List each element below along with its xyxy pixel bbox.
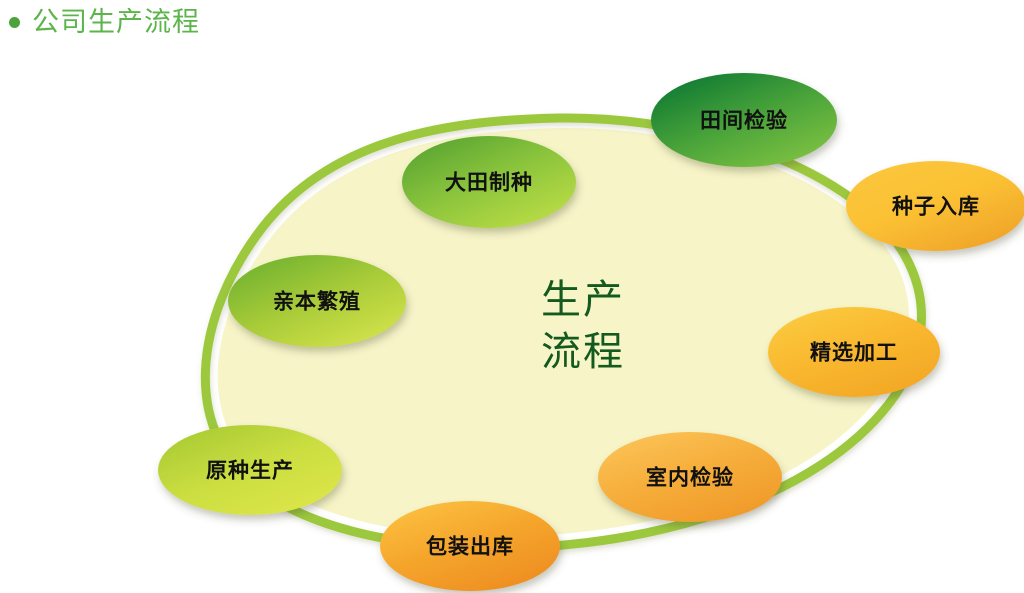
node-parent-propagation-shape[interactable] xyxy=(228,255,406,347)
node-packaging-shipping-shape[interactable] xyxy=(380,501,560,591)
production-process-diagram: 田间检验 种子入库 精选加工 室内检验 包装出库 原种生产 亲本繁殖 大田制种 … xyxy=(0,0,1024,593)
node-indoor-inspection-shape[interactable] xyxy=(598,432,782,522)
diagram-canvas xyxy=(0,0,1024,593)
node-original-seed-shape[interactable] xyxy=(158,425,342,515)
node-field-inspection-shape[interactable] xyxy=(651,73,837,167)
node-selection-processing-shape[interactable] xyxy=(768,307,940,397)
node-field-seed-shape[interactable] xyxy=(402,136,576,228)
node-seed-storage-shape[interactable] xyxy=(846,161,1024,251)
